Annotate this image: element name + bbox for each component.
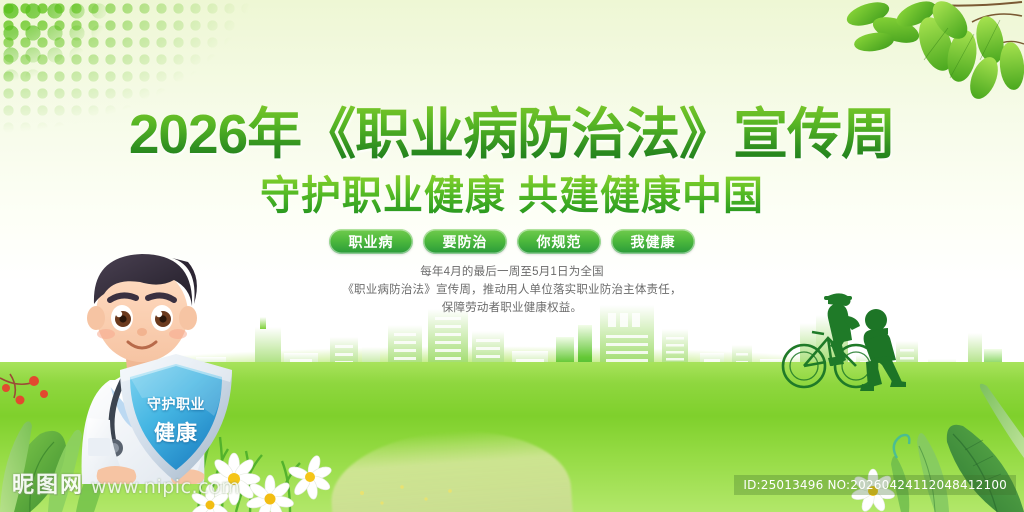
poster-text-block: 2026年《职业病防治法》宣传周 守护职业健康 共建健康中国 职业病 要防治 你… xyxy=(0,0,1024,512)
page-subtitle: 守护职业健康 共建健康中国 xyxy=(0,172,1024,220)
body-paragraph: 每年4月的最后一周至5月1日为全国 《职业病防治法》宣传周，推动用人单位落实职业… xyxy=(0,263,1024,317)
status-badge: ID:25013496 NO:20260424112048412100 xyxy=(734,475,1016,495)
watermark: 昵图网 www.nipic.com xyxy=(12,467,240,499)
page-title: 2026年《职业病防治法》宣传周 xyxy=(0,103,1024,165)
slogan-pill-2[interactable]: 要防治 xyxy=(423,229,507,254)
slogan-pill-4[interactable]: 我健康 xyxy=(611,229,695,254)
watermark-brand: 昵图网 xyxy=(12,467,84,499)
watermark-url: www.nipic.com xyxy=(91,476,240,499)
body-line-3: 保障劳动者职业健康权益。 xyxy=(0,299,1024,317)
slogan-pill-1[interactable]: 职业病 xyxy=(329,229,413,254)
slogan-pill-3[interactable]: 你规范 xyxy=(517,229,601,254)
slogan-pill-group: 职业病 要防治 你规范 我健康 xyxy=(0,229,1024,254)
poster-banner: 守护职业 健康 2026年《职业病防治法》宣传周 守护职业健康 共建健康中国 职… xyxy=(0,0,1024,512)
body-line-2: 《职业病防治法》宣传周，推动用人单位落实职业防治主体责任， xyxy=(0,281,1024,299)
body-line-1: 每年4月的最后一周至5月1日为全国 xyxy=(0,263,1024,281)
